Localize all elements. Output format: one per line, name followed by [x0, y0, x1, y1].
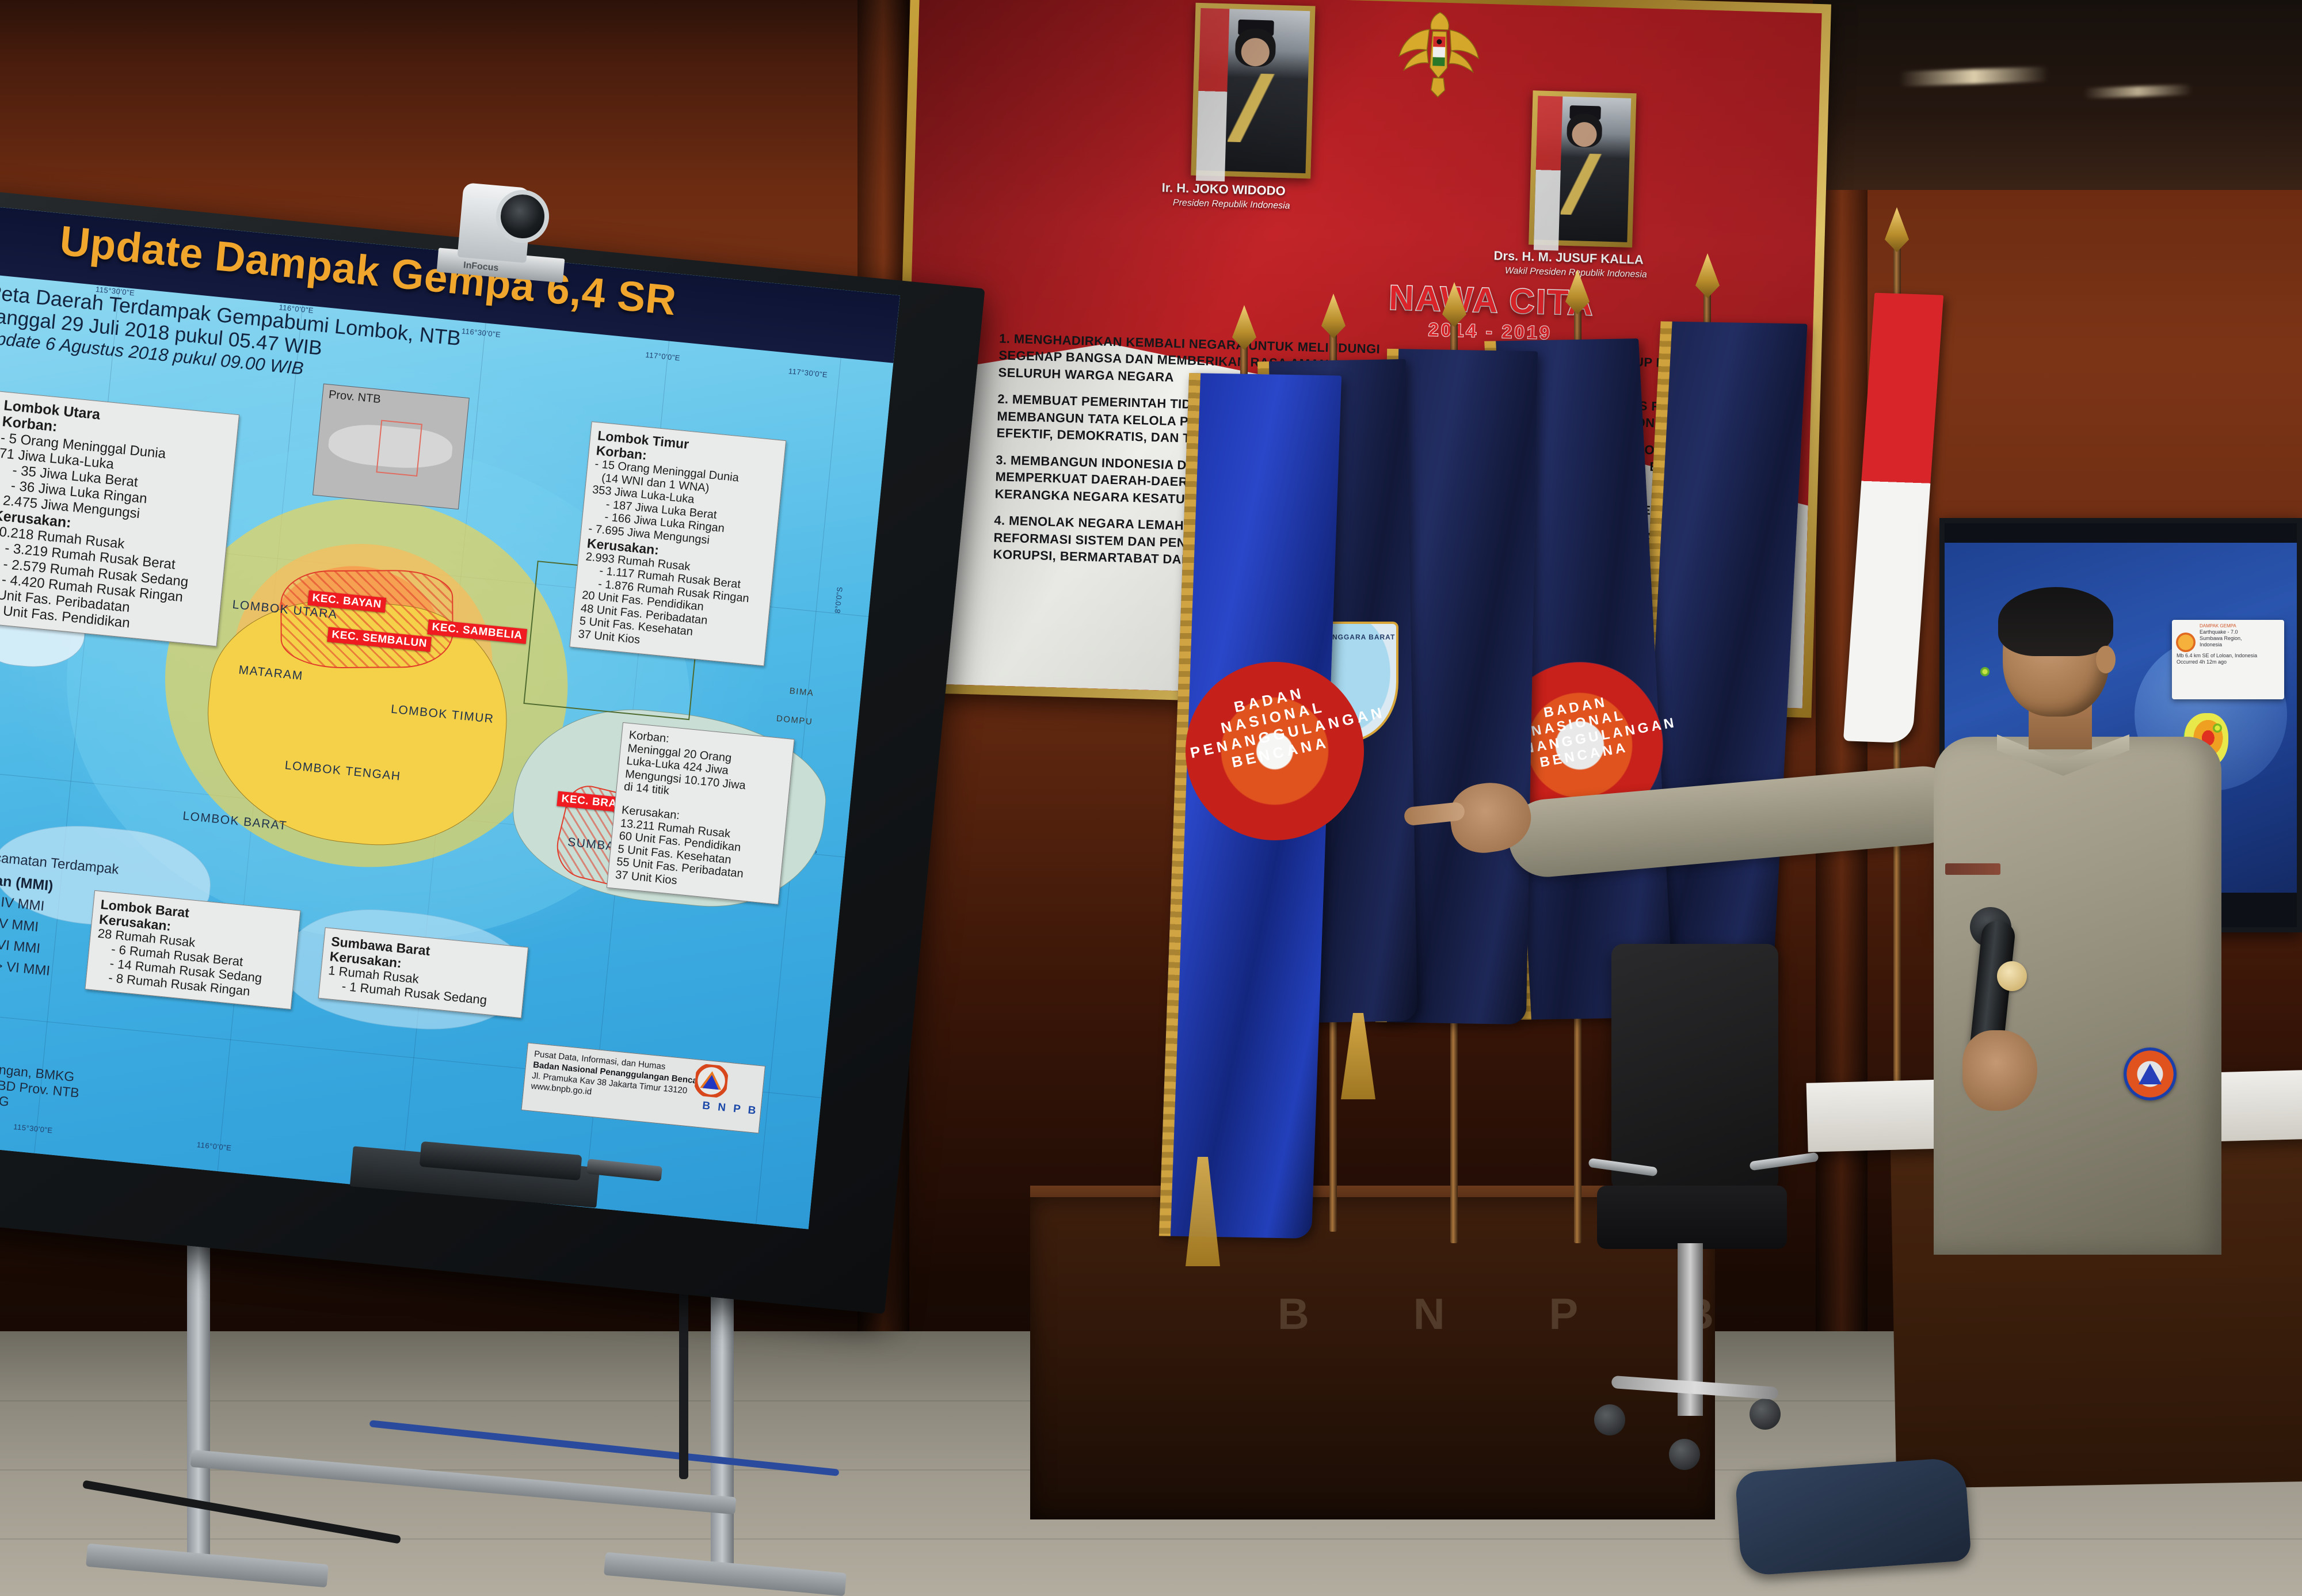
- map-label-dompu: DOMPU: [776, 714, 813, 727]
- coord-label: 115°30'0"E: [13, 1122, 54, 1135]
- map-label-bima: BIMA: [789, 686, 814, 698]
- legend-label: IV MMI: [0, 894, 45, 915]
- info-box-lombok-timur: Lombok Timur Korban: - 15 Orang Meningga…: [569, 421, 786, 666]
- info-box-lombok-utara: Lombok Utara Korban: - 5 Orang Meninggal…: [0, 391, 239, 646]
- bnpb-logo-icon: [693, 1063, 729, 1098]
- presenter-mic-hand: [1962, 1030, 2037, 1111]
- podium-letter: N: [1413, 1289, 1446, 1339]
- presenter-hair: [1998, 587, 2113, 656]
- presenter: [1830, 593, 2267, 1456]
- map-sources: Sumber: 1. Peta Guncangan, BMKG 2. Lapor…: [0, 1038, 169, 1125]
- office-chair-back: [1611, 944, 1778, 1191]
- podium-wordmark: B N P B: [1278, 1289, 1715, 1339]
- presenter-nametag: [1945, 863, 2000, 875]
- podium-letter: B: [1278, 1289, 1310, 1339]
- presenter-ear: [2096, 646, 2116, 673]
- coord-label: 116°0'0"E: [196, 1140, 232, 1152]
- info-box-totals: Korban: Meninggal 20 Orang Luka-Luka 424…: [607, 722, 795, 904]
- floor-bag: [1735, 1457, 1972, 1576]
- ceiling-panel: [1813, 0, 2302, 190]
- slide: 115°30'0"E 116°0'0"E 116°30'0"E 117°0'0"…: [0, 206, 900, 1229]
- bnpb-footer-box: Pusat Data, Informasi, dan Humas Badan N…: [521, 1042, 765, 1133]
- chair-wheel: [1750, 1399, 1781, 1430]
- podium-letter: P: [1549, 1289, 1580, 1339]
- affected-kecamatan-area: [280, 570, 453, 669]
- chair-wheel: [1669, 1439, 1700, 1470]
- inset-extent-rectangle: [376, 420, 422, 477]
- bnpb-shoulder-patch: [2124, 1048, 2177, 1100]
- legend-label: VI MMI: [0, 937, 41, 957]
- coord-label: 8°0'0"S: [833, 586, 844, 614]
- tv-screen[interactable]: 115°30'0"E 116°0'0"E 116°30'0"E 117°0'0"…: [0, 206, 900, 1229]
- coord-label: 117°30'0"E: [788, 367, 828, 379]
- coord-label: 117°0'0"E: [645, 351, 681, 363]
- footer-text: Pusat Data, Informasi, dan Humas Badan N…: [524, 1043, 718, 1110]
- map-legend: Legenda: Kecamatan Terdampak Guncangan (…: [0, 823, 127, 986]
- uniform-pin: [1997, 961, 2027, 991]
- chair-wheel: [1594, 1404, 1625, 1435]
- monitor-topbar: [1945, 523, 2297, 543]
- province-inset-map: Prov. NTB: [312, 383, 470, 509]
- bnpb-wordmark: B N P B: [702, 1100, 759, 1118]
- office-chair-seat: [1597, 1186, 1787, 1249]
- legend-label: V MMI: [0, 916, 39, 936]
- legend-label: > VI MMI: [0, 958, 51, 979]
